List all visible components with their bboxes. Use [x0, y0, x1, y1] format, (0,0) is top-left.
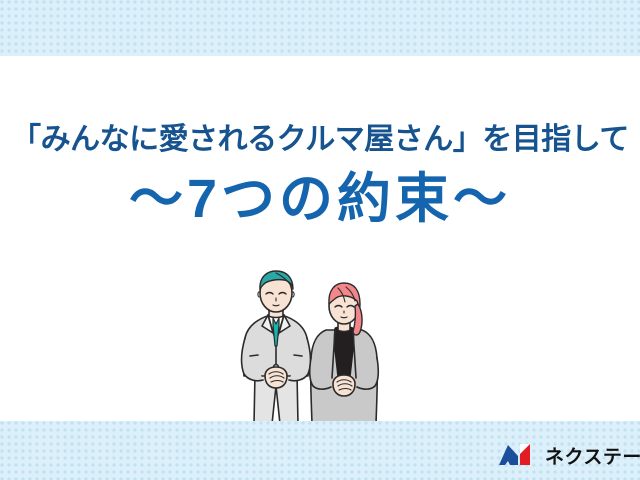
female-staff-figure [310, 283, 379, 424]
headline-line-1: 「みんなに愛されるクルマ屋さん」を目指して [0, 118, 640, 162]
promo-banner: 「みんなに愛されるクルマ屋さん」を目指して 〜7つの約束〜 [0, 0, 640, 480]
headline-block: 「みんなに愛されるクルマ屋さん」を目指して 〜7つの約束〜 [0, 118, 640, 230]
nexstage-n-mark-icon [498, 442, 538, 468]
headline-line-2: 〜7つの約束〜 [0, 168, 640, 230]
top-dotted-band [0, 0, 640, 56]
brand-logo: ネクステージ [498, 440, 640, 470]
male-staff-figure [241, 271, 310, 424]
staff-illustration [232, 268, 412, 428]
brand-logo-text: ネクステージ [545, 442, 640, 469]
staff-illustration-svg [232, 268, 412, 428]
